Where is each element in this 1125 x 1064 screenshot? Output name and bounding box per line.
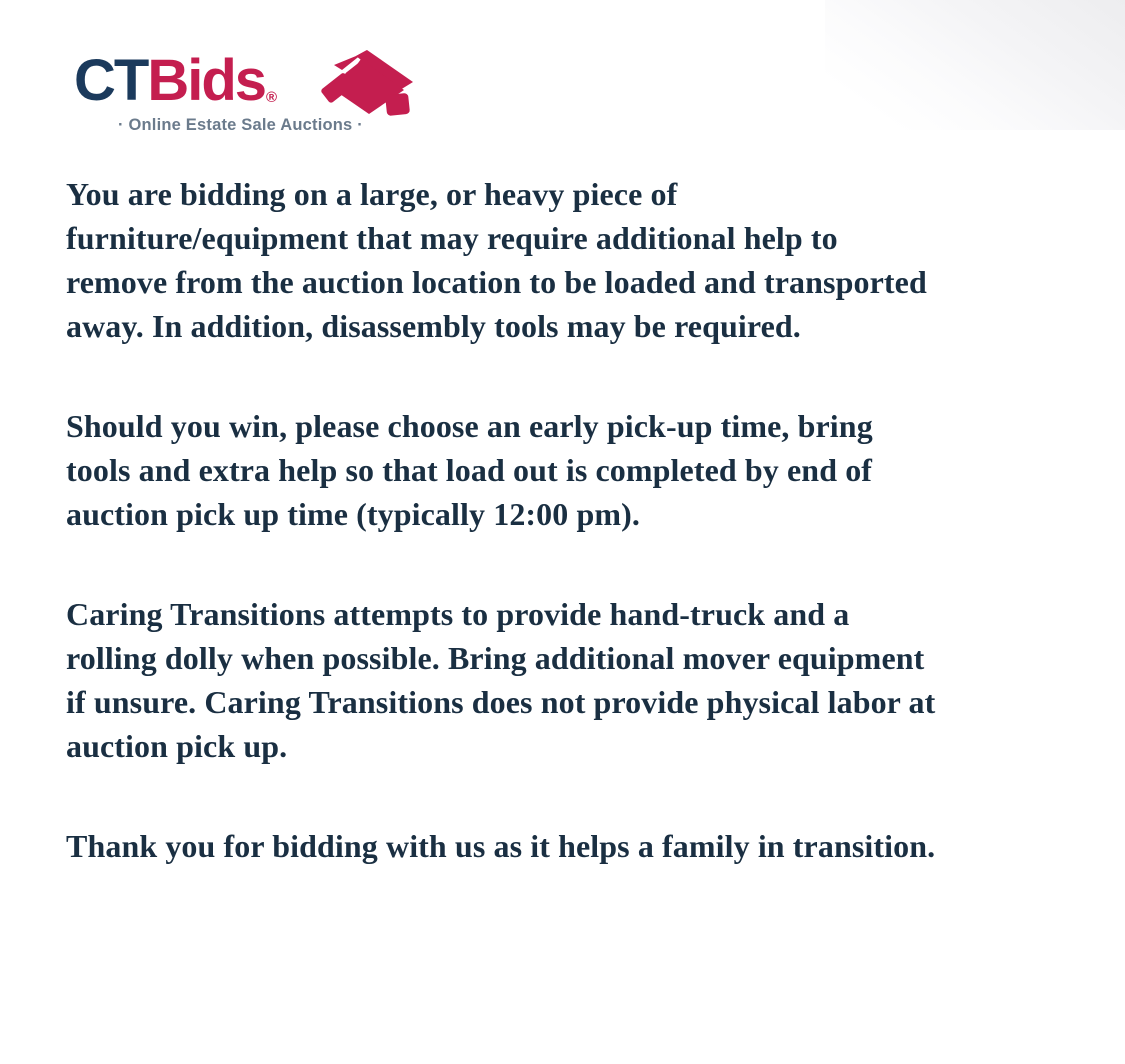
notice-page: CTBids® · Online Estate Sale Auc (0, 0, 1125, 1064)
notice-body: You are bidding on a large, or heavy pie… (66, 172, 1076, 868)
notice-line: Caring Transitions attempts to provide h… (66, 592, 1076, 636)
logo-wordmark: CTBids® (74, 50, 419, 112)
notice-line: remove from the auction location to be l… (66, 260, 1076, 304)
notice-line: rolling dolly when possible. Bring addit… (66, 636, 1076, 680)
corner-gradient-wash (825, 0, 1125, 130)
notice-line: tools and extra help so that load out is… (66, 448, 1076, 492)
notice-line: auction pick up. (66, 724, 1076, 768)
logo-text-ct: CT (74, 48, 147, 113)
paragraph-pickup-instructions: Should you win, please choose an early p… (66, 404, 1076, 536)
notice-line: away. In addition, disassembly tools may… (66, 304, 1076, 348)
notice-line: auction pick up time (typically 12:00 pm… (66, 492, 1076, 536)
registered-trademark-icon: ® (266, 89, 277, 106)
notice-line: Thank you for bidding with us as it help… (66, 824, 1076, 868)
paragraph-large-heavy-item: You are bidding on a large, or heavy pie… (66, 172, 1076, 348)
paragraph-thank-you: Thank you for bidding with us as it help… (66, 824, 1076, 868)
notice-line: furniture/equipment that may require add… (66, 216, 1076, 260)
notice-line: Should you win, please choose an early p… (66, 404, 1076, 448)
notice-line: You are bidding on a large, or heavy pie… (66, 172, 1076, 216)
ctbids-logo: CTBids® · Online Estate Sale Auc (74, 50, 419, 146)
paragraph-equipment-policy: Caring Transitions attempts to provide h… (66, 592, 1076, 768)
logo-text-bids: Bids (147, 48, 265, 113)
roof-and-gavel-icon (312, 48, 416, 126)
logo-tagline: · Online Estate Sale Auctions · (118, 116, 363, 135)
notice-line: if unsure. Caring Transitions does not p… (66, 680, 1076, 724)
